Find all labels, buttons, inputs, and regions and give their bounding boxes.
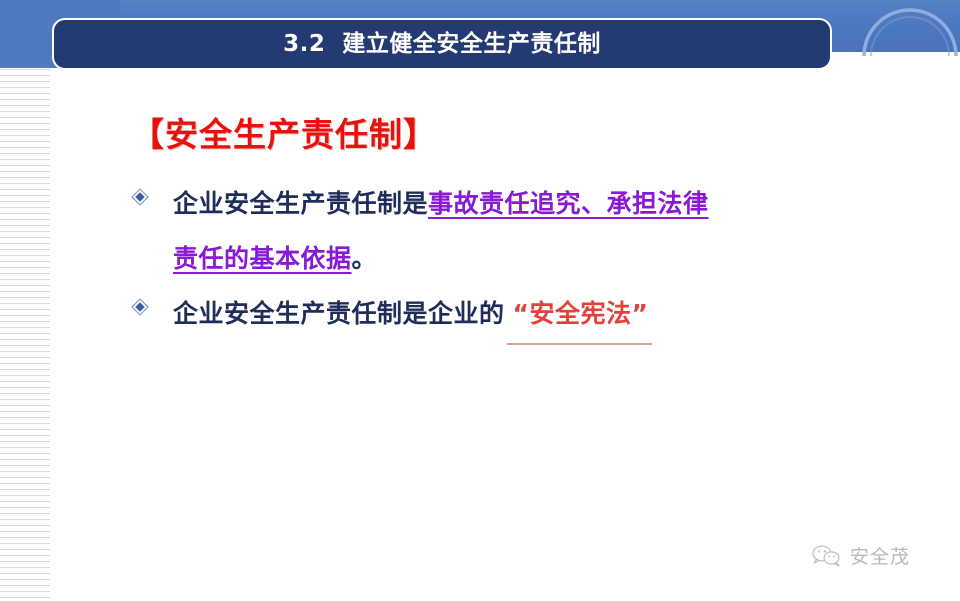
list-item-body: 企业安全生产责任制是企业的“安全宪法” [173,286,891,345]
presentation-slide: 3.2 建立健全安全生产责任制 【安全生产责任制】 企业安全生产责任制是事故责任… [0,0,960,601]
slide-content: 【安全生产责任制】 企业安全生产责任制是事故责任追究、承担法律 责任的基本依据。 [0,0,960,601]
wechat-logo-icon [812,544,842,568]
text-run-navy: 。 [352,244,378,273]
list-item: 企业安全生产责任制是企业的“安全宪法” [131,286,891,345]
paragraph-line: 企业安全生产责任制是企业的“安全宪法” [173,286,891,345]
watermark-label: 安全茂 [850,542,910,569]
bullet-marker-cell [131,286,173,316]
slide-title-text: 3.2 建立健全安全生产责任制 [283,33,601,56]
slide-title-pill: 3.2 建立健全安全生产责任制 [52,18,832,70]
bullet-marker-cell [131,176,173,206]
section-heading: 【安全生产责任制】 [131,108,437,156]
text-run-navy: 企业安全生产责任制是 [173,189,428,218]
list-item-body: 企业安全生产责任制是事故责任追究、承担法律 责任的基本依据。 [173,176,891,286]
paragraph-line: 责任的基本依据。 [173,231,891,286]
diamond-bullet-icon [131,298,149,316]
list-item: 企业安全生产责任制是事故责任追究、承担法律 责任的基本依据。 [131,176,891,286]
watermark: 安全茂 [812,542,910,569]
diamond-bullet-icon [131,188,149,206]
bullet-list: 企业安全生产责任制是事故责任追究、承担法律 责任的基本依据。 [131,176,891,345]
text-run-red-underline: “安全宪法” [507,286,653,345]
text-run-purple-underline: 责任的基本依据 [173,244,352,273]
text-run-purple-underline: 事故责任追究、承担法律 [428,189,709,218]
paragraph-line: 企业安全生产责任制是事故责任追究、承担法律 [173,176,891,231]
text-run-navy: 企业安全生产责任制是企业的 [173,299,505,328]
